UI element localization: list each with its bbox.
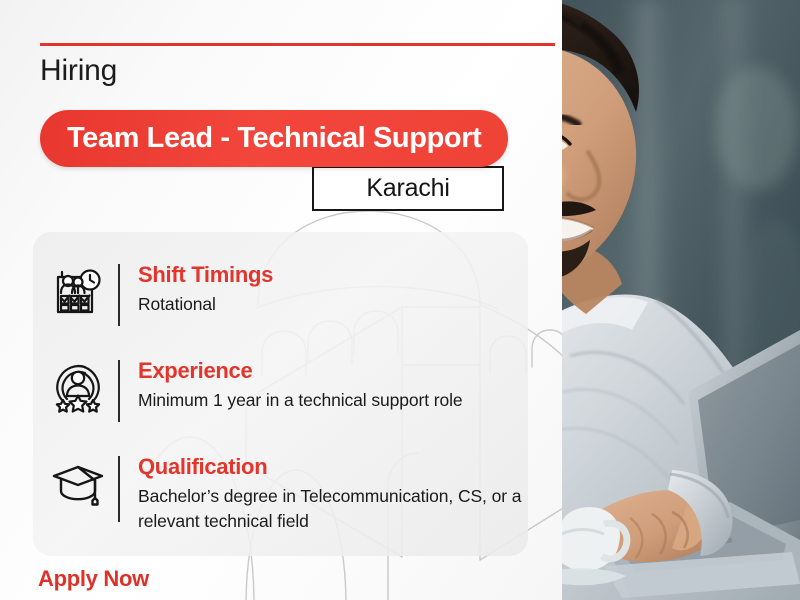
job-title-pill: Team Lead - Technical Support (40, 110, 508, 167)
detail-body: Bachelor’s degree in Telecommunication, … (138, 484, 528, 534)
graduation-cap-icon (47, 454, 109, 508)
smiling-man-typing-on-laptop (560, 0, 800, 600)
detail-title: Shift Timings (138, 262, 273, 287)
detail-text-block: Experience Minimum 1 year in a technical… (138, 358, 463, 413)
person-three-stars-icon (47, 358, 109, 414)
job-title-text: Team Lead - Technical Support (67, 122, 481, 155)
calendar-checklist-clock-icon (47, 262, 109, 318)
detail-title: Experience (138, 358, 463, 383)
location-text: Karachi (366, 174, 449, 203)
detail-body: Rotational (138, 292, 273, 317)
detail-divider (118, 456, 120, 522)
detail-row: Shift Timings Rotational (47, 262, 273, 326)
detail-row: Qualification Bachelor’s degree in Telec… (47, 454, 528, 534)
detail-title: Qualification (138, 454, 528, 479)
job-details-card: Shift Timings Rotational (33, 232, 528, 556)
detail-divider (118, 360, 120, 422)
detail-text-block: Qualification Bachelor’s degree in Telec… (138, 454, 528, 534)
content-panel: Hiring Team Lead - Technical Support Kar… (0, 0, 562, 600)
detail-divider (118, 264, 120, 326)
location-box: Karachi (312, 166, 504, 211)
detail-body: Minimum 1 year in a technical support ro… (138, 388, 463, 413)
job-posting-poster: Hiring Team Lead - Technical Support Kar… (0, 0, 800, 600)
accent-rule (40, 43, 555, 46)
apply-now-cta[interactable]: Apply Now (38, 566, 149, 592)
detail-row: Experience Minimum 1 year in a technical… (47, 358, 463, 422)
hiring-eyebrow: Hiring (40, 54, 117, 88)
detail-text-block: Shift Timings Rotational (138, 262, 273, 317)
